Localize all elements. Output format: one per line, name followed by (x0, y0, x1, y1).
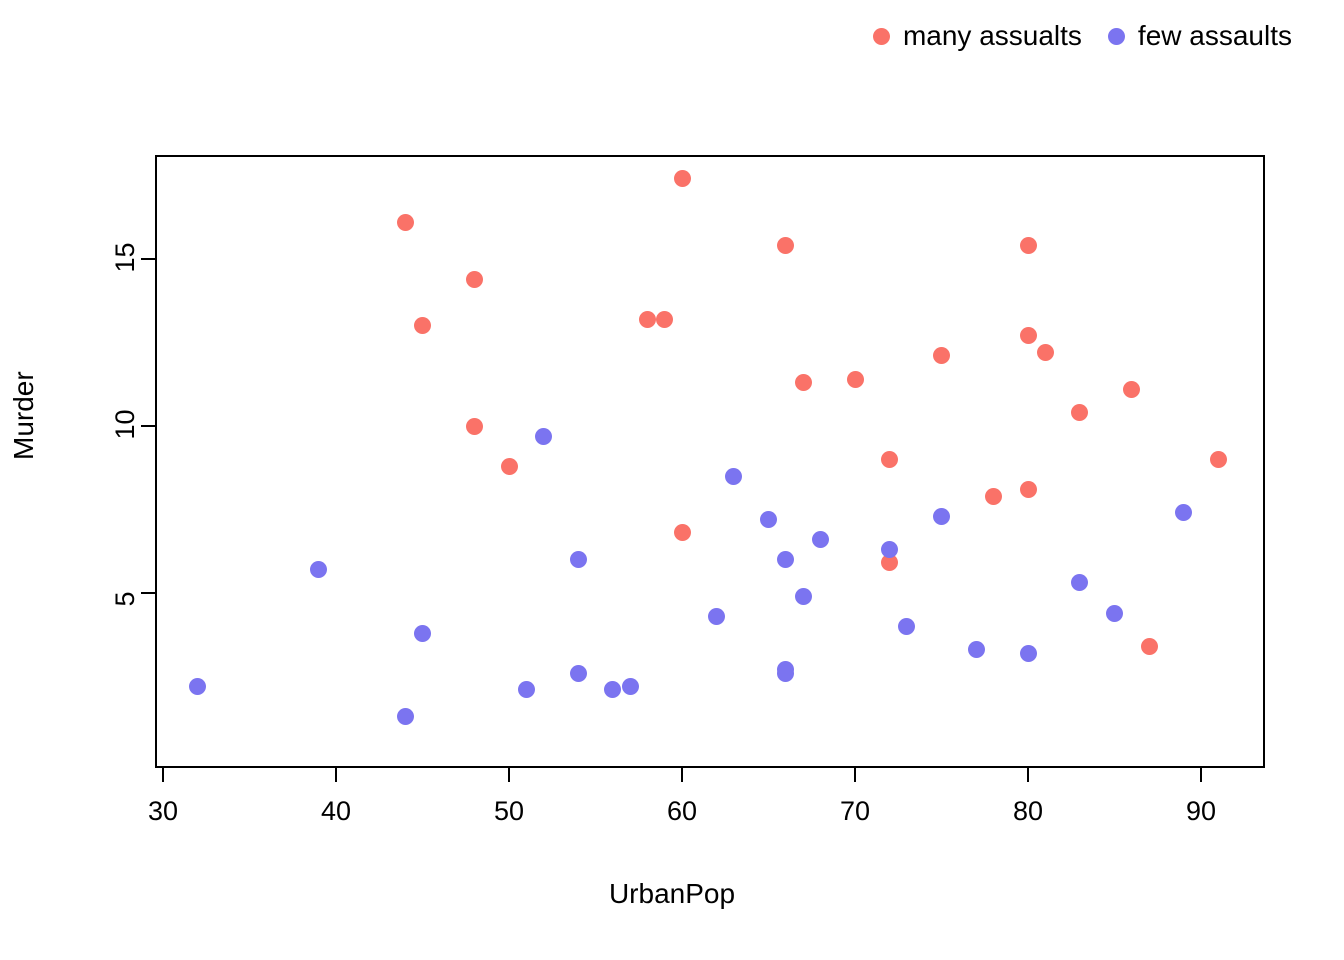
x-axis-tick-label: 30 (148, 798, 178, 825)
x-axis-tick-label: 70 (840, 798, 870, 825)
legend-label: few assaults (1138, 22, 1292, 50)
legend-entry[interactable]: many assualts (873, 22, 1082, 50)
x-axis-tick (1200, 768, 1202, 782)
x-axis-label: UrbanPop (0, 880, 1344, 908)
x-axis-tick-label: 50 (494, 798, 524, 825)
x-axis-tick (1027, 768, 1029, 782)
circle-marker-icon (873, 28, 890, 45)
x-axis-tick (681, 768, 683, 782)
x-axis-tick (854, 768, 856, 782)
y-axis-tick (141, 592, 155, 594)
x-axis-tick (162, 768, 164, 782)
x-axis-tick (508, 768, 510, 782)
legend-entry[interactable]: few assaults (1108, 22, 1292, 50)
y-axis-tick-label: 10 (112, 409, 139, 439)
x-axis-tick-label: 80 (1013, 798, 1043, 825)
y-axis-tick (141, 258, 155, 260)
legend: many assualtsfew assaults (873, 22, 1292, 50)
x-axis-tick-label: 90 (1186, 798, 1216, 825)
scatter-plot-figure: many assualtsfew assaults 30405060708090… (0, 0, 1344, 960)
legend-label: many assualts (903, 22, 1082, 50)
y-axis-tick-label: 15 (112, 242, 139, 272)
x-axis-tick-label: 40 (321, 798, 351, 825)
x-axis-tick (335, 768, 337, 782)
plot-area-frame (155, 155, 1265, 768)
x-axis-tick-label: 60 (667, 798, 697, 825)
y-axis-tick (141, 425, 155, 427)
y-axis-tick-label: 5 (112, 591, 139, 606)
y-axis-label: Murder (10, 371, 38, 460)
circle-marker-icon (1108, 28, 1125, 45)
